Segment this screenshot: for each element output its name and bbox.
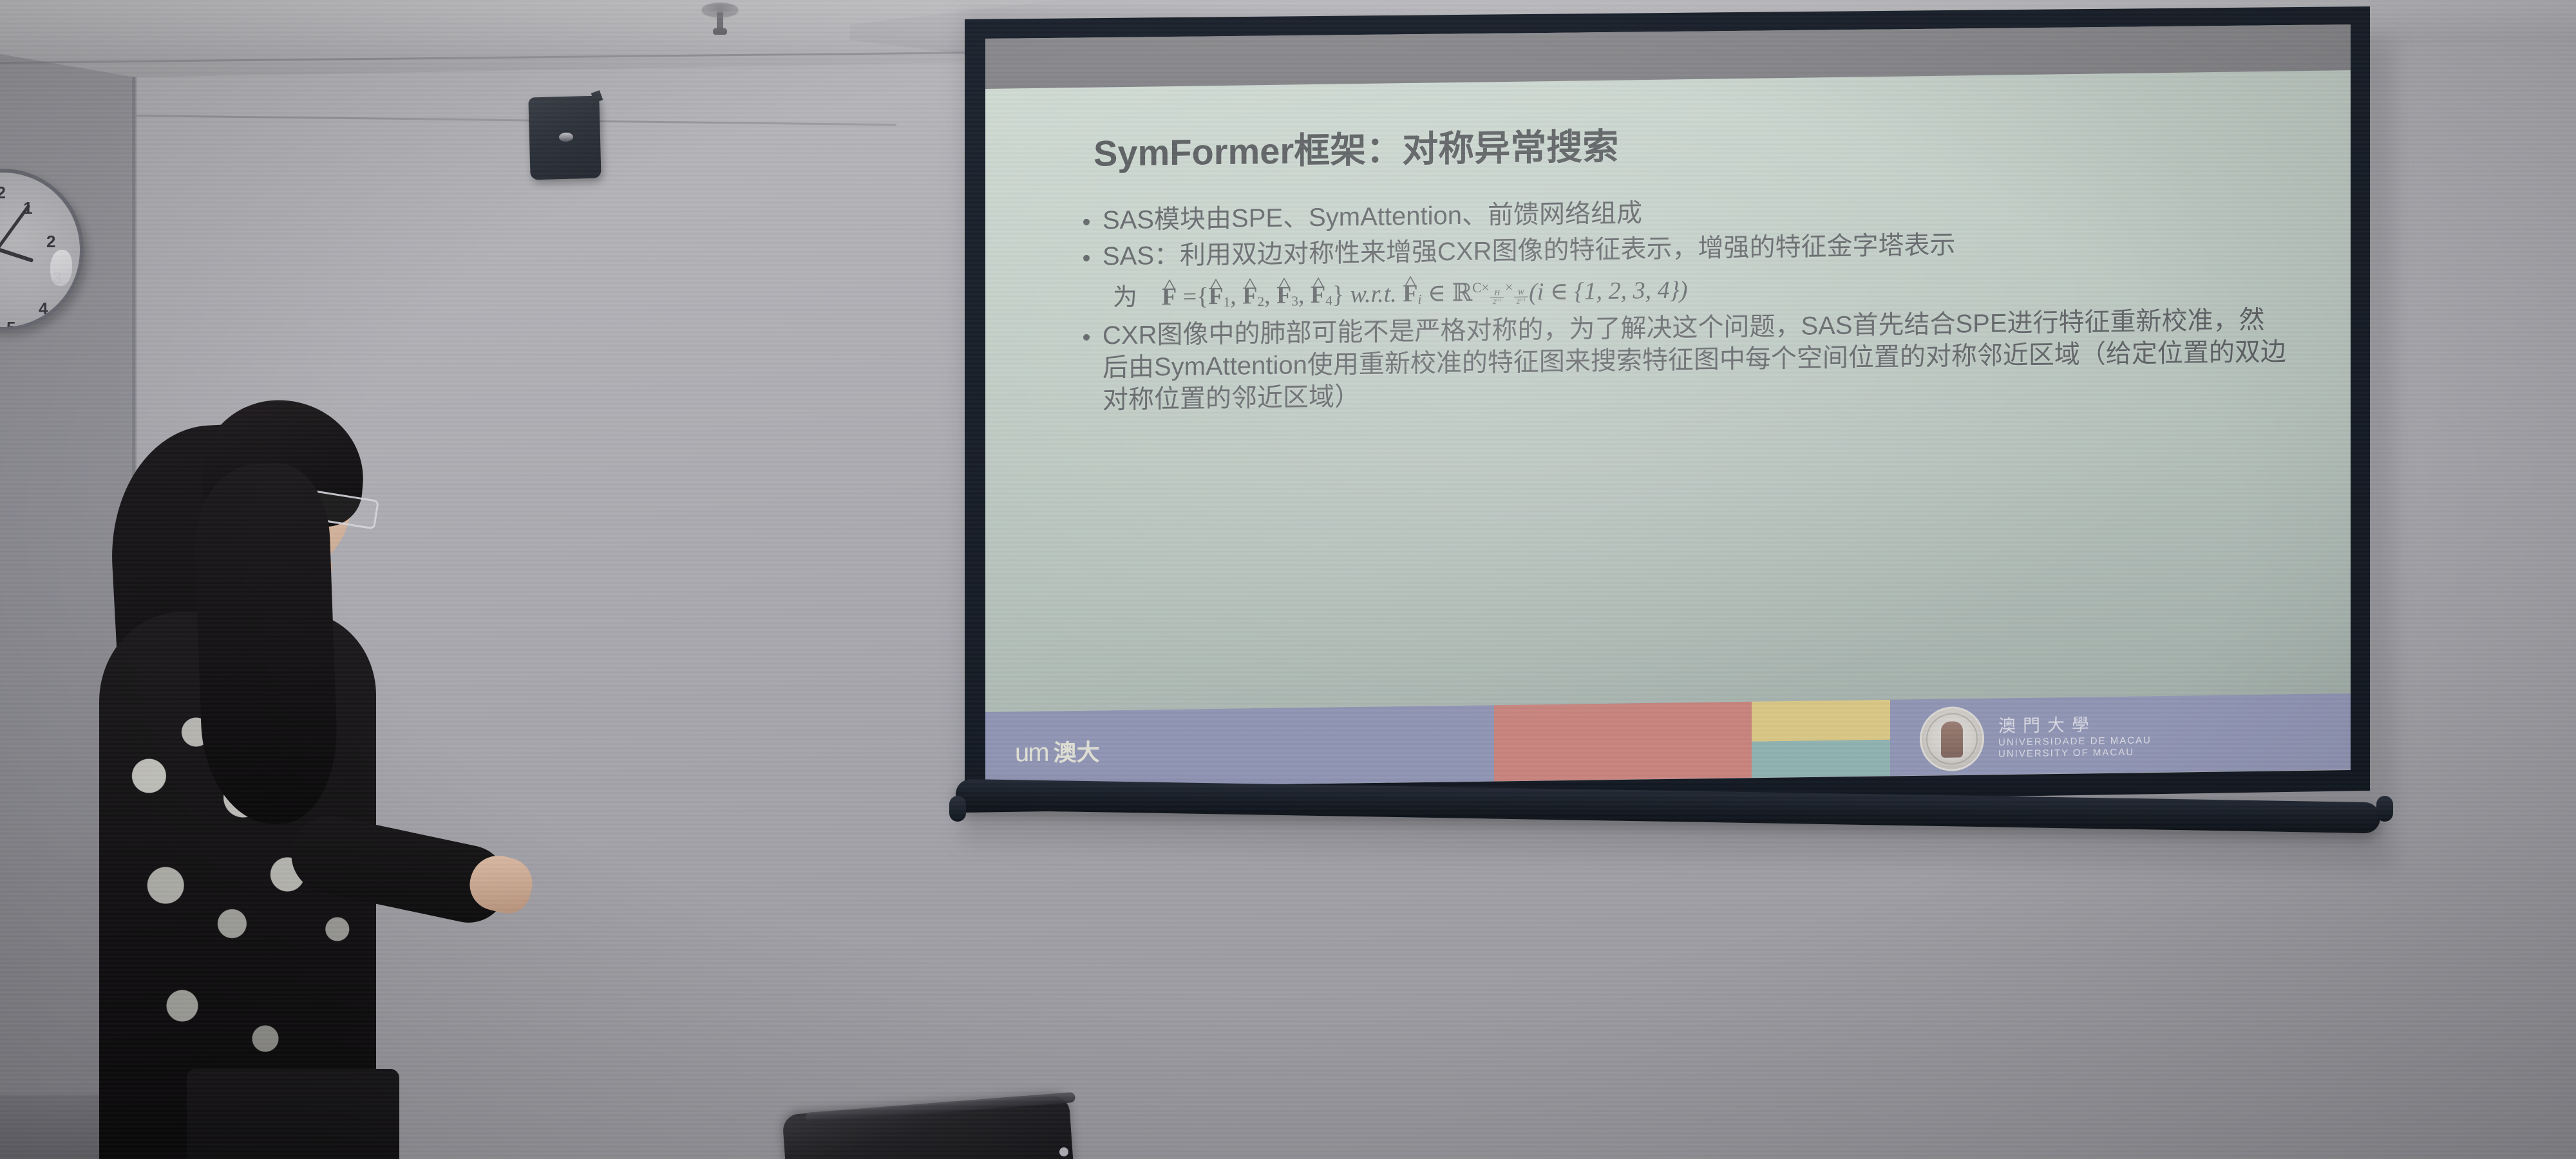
footer-segment-red	[1494, 702, 1752, 781]
projection-screen-surface[interactable]: SymFormer框架：对称异常搜索 SAS模块由SPE、SymAttentio…	[985, 24, 2351, 788]
presenter-hair-front	[192, 462, 339, 827]
presenter	[77, 386, 541, 1159]
formula-index-condition: (i ∈ {1, 2, 3, 4})	[1529, 276, 1687, 305]
seal-figure	[1941, 721, 1963, 757]
ceiling-sprinkler-icon	[702, 3, 738, 36]
sprinkler-head	[713, 28, 727, 35]
clock-number-2: 2	[46, 232, 55, 252]
presenter-lower-body	[187, 1069, 399, 1159]
formula-dim-c: C	[1472, 280, 1481, 296]
footer-segment-yellow	[1752, 700, 1890, 742]
clock-minute-hand	[0, 204, 30, 250]
wall-speaker-icon	[528, 96, 601, 180]
university-seal-icon	[1920, 706, 1984, 771]
formula-h-num: H	[1490, 288, 1504, 297]
formula-w-num: W	[1514, 288, 1528, 297]
formula-set-close: }	[1332, 281, 1344, 308]
footer-segment-teal	[1752, 740, 1890, 778]
university-brand: 澳門大學 UNIVERSIDADE DE MACAU UNIVERSITY OF…	[1920, 704, 2152, 771]
formula-prefix: 为	[1113, 284, 1137, 312]
formula-w-den: 2i+1	[1514, 297, 1528, 305]
footer-segment-university: 澳門大學 UNIVERSIDADE DE MACAU UNIVERSITY OF…	[1890, 693, 2351, 776]
slide-bullet-item: CXR图像中的肺部可能不是严格对称的，为了解决这个问题，SAS首先结合SPE进行…	[1079, 303, 2290, 417]
clock-hour-hand	[0, 247, 33, 263]
formula-in: ∈	[1428, 279, 1446, 306]
screen-bar-cap-left	[949, 796, 966, 822]
screen-bar-cap-right	[2376, 796, 2393, 822]
um-wordmark-cn: 澳大	[1054, 734, 1100, 768]
clock-number-4: 4	[39, 299, 48, 319]
formula-frac-w: W2i+1	[1514, 288, 1528, 305]
clock-number-12: 12	[0, 183, 6, 203]
clock-glare	[50, 250, 72, 286]
footer-segment-lavender: um 澳大	[985, 705, 1494, 788]
formula-times-2: ×	[1505, 279, 1513, 295]
presentation-slide[interactable]: SymFormer框架：对称异常搜索 SAS模块由SPE、SymAttentio…	[985, 70, 2351, 788]
clock-number-5: 5	[6, 318, 15, 331]
um-wordmark: um	[1015, 739, 1048, 768]
university-name-block: 澳門大學 UNIVERSIDADE DE MACAU UNIVERSITY OF…	[1998, 714, 2152, 761]
university-name-en: UNIVERSITY OF MACAU	[1998, 747, 2152, 761]
university-name-cn: 澳門大學	[1998, 714, 2152, 737]
slide-content: SymFormer框架：对称异常搜索 SAS模块由SPE、SymAttentio…	[985, 70, 2351, 788]
lecture-room-photo: 12 1 2 3 4 5 SymFormer框架：对称异常搜索 SAS模块由SP…	[0, 0, 2576, 1159]
formula-lhs: F	[1162, 283, 1177, 310]
slide-bullet-list: SAS模块由SPE、SymAttention、前馈网络组成 SAS：利用双边对称…	[1079, 188, 2290, 420]
footer-segment-split	[1752, 700, 1890, 778]
speaker-cone	[559, 133, 573, 142]
formula-w-exp: i+1	[1520, 297, 1526, 302]
formula-wrt: w.r.t.	[1350, 280, 1397, 308]
formula-equals: =	[1183, 283, 1197, 310]
slide-title: SymFormer框架：对称异常搜索	[1094, 118, 1618, 177]
chair-stud	[1059, 1147, 1068, 1156]
formula-frac-h: H2i+1	[1490, 288, 1504, 305]
formula-space: ℝ	[1452, 279, 1473, 306]
formula-h-den: 2i+1	[1490, 297, 1504, 306]
formula-set-open: {	[1197, 283, 1208, 310]
formula-h-exp: i+1	[1496, 297, 1502, 302]
um-logo: um 澳大	[1015, 734, 1100, 769]
formula-times-1: ×	[1481, 279, 1489, 295]
